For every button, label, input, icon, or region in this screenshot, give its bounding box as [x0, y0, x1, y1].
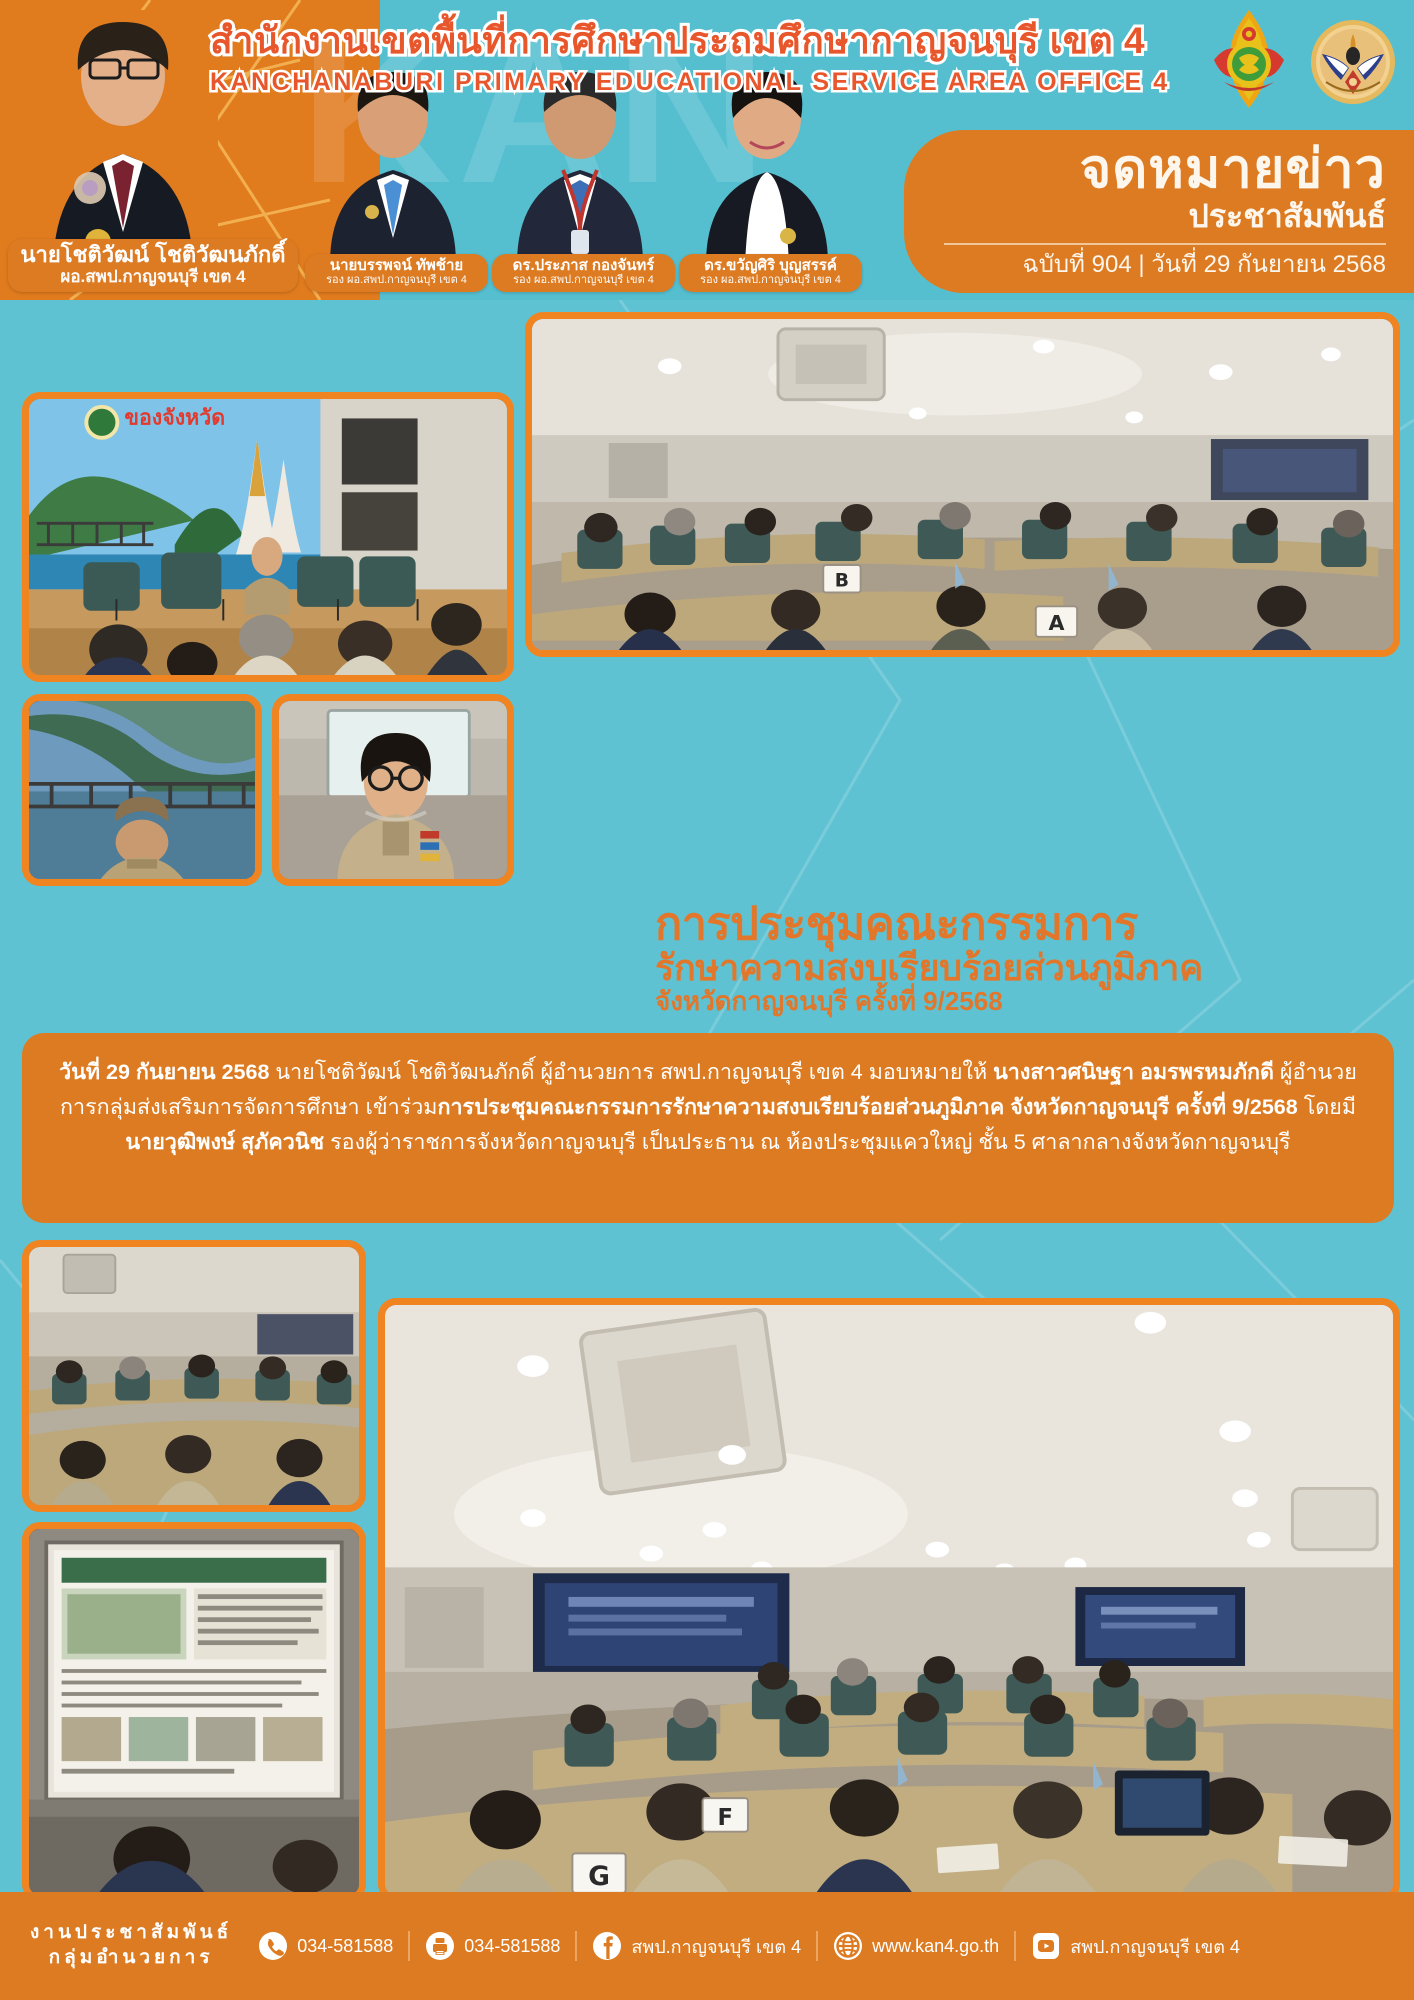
footer-fax-number: 034-581588 — [464, 1936, 560, 1957]
newsletter-title-line1: จดหมายข่าว — [944, 142, 1386, 196]
photo-meeting-chairman-image: ของจังหวัด — [29, 399, 507, 681]
photo-front-row-attendees-image — [29, 1247, 359, 1508]
photo-officer-bridge-image — [29, 701, 255, 882]
photo-presentation-screen-image — [29, 1529, 359, 1894]
logo-group — [1206, 8, 1396, 112]
footer-divider-1 — [408, 1931, 410, 1961]
footer-contacts: 034-581588 034-581588 — [258, 1931, 1240, 1961]
page-header: KAN — [0, 0, 1414, 300]
namecard-deputy-1-name: นายบรรพจน์ ทัพช้าย — [315, 258, 478, 275]
body-text-4: รองผู้ว่าราชการจังหวัดกาญจนบุรี เป็นประธ… — [324, 1130, 1290, 1154]
headline-line2: รักษาความสงบเรียบร้อยส่วนภูมิภาค — [655, 948, 1405, 988]
photo-meeting-hall-overview: B A — [525, 312, 1400, 657]
footer-contact-fax[interactable]: 034-581588 — [425, 1931, 560, 1961]
footer-divider-2 — [575, 1931, 577, 1961]
footer-dept-line1: งานประชาสัมพันธ์ — [30, 1921, 232, 1946]
body-date: วันที่ 29 กันยายน 2568 — [59, 1060, 269, 1084]
photo-front-row-attendees — [22, 1240, 366, 1512]
newsletter-issue-date: ฉบับที่ 904 | วันที่ 29 กันยายน 2568 — [944, 251, 1386, 279]
photo-meeting-chairman: ของจังหวัด — [22, 392, 514, 682]
newsletter-page: KAN — [0, 0, 1414, 2000]
placard-f: F — [718, 1805, 734, 1831]
newsletter-badge: จดหมายข่าว ประชาสัมพันธ์ ฉบับที่ 904 | ว… — [904, 130, 1414, 293]
youtube-icon — [1031, 1931, 1061, 1961]
footer-website-url: www.kan4.go.th — [872, 1936, 999, 1957]
body-text-3: โดยมี — [1298, 1095, 1356, 1119]
body-event-name: การประชุมคณะกรรมการรักษาความสงบเรียบร้อย… — [437, 1095, 1297, 1119]
body-person-1: นางสาวศนิษฐา อมรพรหมภักดี — [993, 1060, 1274, 1084]
svg-text:ของจังหวัด: ของจังหวัด — [124, 405, 225, 430]
namecard-deputy-1: นายบรรพจน์ ทัพช้าย รอง ผอ.สพป.กาญจนบุรี … — [305, 254, 488, 292]
footer-dept-line2: กลุ่มอำนวยการ — [30, 1946, 232, 1971]
namecard-deputy-2-role: รอง ผอ.สพป.กาญจนบุรี เขต 4 — [502, 274, 665, 287]
placard-g: G — [588, 1861, 610, 1892]
namecard-deputy-2-name: ดร.ประภาส กองจันทร์ — [502, 258, 665, 275]
article-headline: การประชุมคณะกรรมการ รักษาความสงบเรียบร้อ… — [655, 900, 1405, 1017]
kanchanaburi-area-office-seal — [1310, 8, 1396, 112]
footer-phone-number: 034-581588 — [297, 1936, 393, 1957]
facebook-icon — [592, 1931, 622, 1961]
namecard-deputy-3: ดร.ขวัญศิริ บุญสรรค์ รอง ผอ.สพป.กาญจนบุร… — [679, 254, 862, 292]
phone-icon — [258, 1931, 288, 1961]
footer-youtube-name: สพป.กาญจนบุรี เขต 4 — [1070, 1932, 1240, 1961]
namecard-deputy-2: ดร.ประภาส กองจันทร์ รอง ผอ.สพป.กาญจนบุรี… — [492, 254, 675, 292]
photo-officer-bridge — [22, 694, 262, 886]
body-person-2: นายวุฒิพงษ์ สุภัควนิช — [125, 1130, 324, 1154]
footer-divider-4 — [1014, 1931, 1016, 1961]
page-title-english: KANCHANABURI PRIMARY EDUCATIONAL SERVICE… — [210, 68, 1140, 97]
page-title-thai: สำนักงานเขตพื้นที่การศึกษาประถมศึกษากาญจ… — [210, 18, 1140, 64]
photo-meeting-hall-overview-image: B A — [532, 319, 1393, 657]
globe-icon — [833, 1931, 863, 1961]
placard-a: A — [1048, 611, 1064, 635]
namecard-director-role: ผอ.สพป.กาญจนบุรี เขต 4 — [18, 267, 288, 287]
namecard-director: นายโชติวัฒน์ โชติวัฒนภักดิ์ ผอ.สพป.กาญจน… — [8, 239, 298, 292]
photo-presentation-screen — [22, 1522, 366, 1902]
footer-contact-facebook[interactable]: สพป.กาญจนบุรี เขต 4 — [592, 1931, 801, 1961]
header-title-block: สำนักงานเขตพื้นที่การศึกษาประถมศึกษากาญจ… — [210, 18, 1140, 97]
newsletter-title-line2: ประชาสัมพันธ์ — [944, 198, 1386, 235]
footer-contact-website[interactable]: www.kan4.go.th — [833, 1931, 999, 1961]
photo-education-director-image — [279, 701, 507, 882]
namecard-deputy-3-role: รอง ผอ.สพป.กาญจนบุรี เขต 4 — [689, 274, 852, 287]
headline-line1: การประชุมคณะกรรมการ — [655, 900, 1405, 948]
footer-department: งานประชาสัมพันธ์ กลุ่มอำนวยการ — [30, 1921, 232, 1970]
photo-hall-wide-view: F G — [378, 1298, 1400, 1902]
obec-emblem-logo — [1206, 8, 1292, 112]
footer-facebook-name: สพป.กาญจนบุรี เขต 4 — [631, 1932, 801, 1961]
article-body: วันที่ 29 กันยายน 2568 นายโชติวัฒน์ โชติ… — [22, 1033, 1394, 1223]
body-text-1: นายโชติวัฒน์ โชติวัฒนภักดิ์ ผู้อำนวยการ … — [269, 1060, 993, 1084]
namecard-director-name: นายโชติวัฒน์ โชติวัฒนภักดิ์ — [18, 243, 288, 268]
footer-contact-phone[interactable]: 034-581588 — [258, 1931, 393, 1961]
photo-education-director — [272, 694, 514, 886]
portrait-director — [28, 10, 218, 272]
headline-line3: จังหวัดกาญจนบุรี ครั้งที่ 9/2568 — [655, 987, 1405, 1017]
footer-divider-3 — [816, 1931, 818, 1961]
newsletter-divider — [944, 243, 1386, 245]
page-footer: งานประชาสัมพันธ์ กลุ่มอำนวยการ 034-58158… — [0, 1892, 1414, 2000]
namecard-deputy-1-role: รอง ผอ.สพป.กาญจนบุรี เขต 4 — [315, 274, 478, 287]
photo-hall-wide-view-image: F G — [385, 1305, 1393, 1901]
placard-b: B — [835, 571, 849, 592]
fax-icon — [425, 1931, 455, 1961]
footer-contact-youtube[interactable]: สพป.กาญจนบุรี เขต 4 — [1031, 1931, 1240, 1961]
namecard-deputy-3-name: ดร.ขวัญศิริ บุญสรรค์ — [689, 258, 852, 275]
